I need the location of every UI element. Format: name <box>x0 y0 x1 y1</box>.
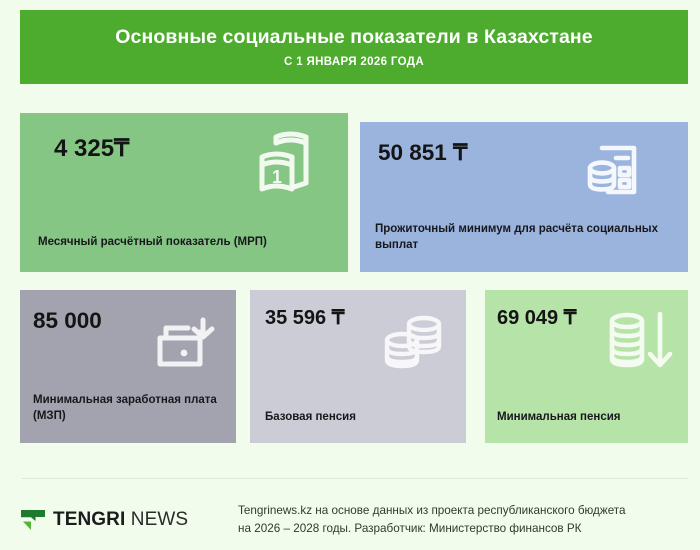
stat-value: 85 000 <box>33 310 102 333</box>
tengri-news-logo[interactable]: TENGRI NEWS <box>20 507 188 533</box>
stat-label: Минимальная заработная плата (МЗП) <box>33 393 228 424</box>
document-coins-icon <box>586 140 642 200</box>
stat-card-living-minimum: 50 851 ₸ Прожиточный минимум для расчёта… <box>360 122 688 272</box>
stat-card-minimum-wage: 85 000 Минимальная заработная плата (МЗП… <box>20 290 236 443</box>
stat-value: 69 049 ₸ <box>497 308 576 328</box>
brand-light-text: NEWS <box>131 509 188 530</box>
brand-bold: TENGRI <box>53 509 125 530</box>
page-title: Основные социальные показатели в Казахст… <box>115 26 592 49</box>
page-subtitle: С 1 ЯНВАРЯ 2026 ГОДА <box>284 56 424 68</box>
source-note: Tengrinews.kz на основе данных из проект… <box>238 502 688 538</box>
footer: TENGRI NEWS Tengrinews.kz на основе данн… <box>0 485 700 550</box>
tengri-logo-icon <box>20 507 46 533</box>
wallet-arrow-down-icon <box>156 316 216 372</box>
stat-label: Месячный расчётный показатель (МРП) <box>38 235 338 251</box>
stat-value: 35 596 ₸ <box>265 308 344 328</box>
source-line-2: на 2026 – 2028 годы. Разработчик: Минист… <box>238 520 688 538</box>
svg-text:1: 1 <box>272 167 282 187</box>
stat-card-minimum-pension: 69 049 ₸ Минимальная пенсия <box>485 290 688 443</box>
stat-value: 50 851 ₸ <box>378 142 467 165</box>
stat-value: 4 325₸ <box>54 137 129 161</box>
stat-card-base-pension: 35 596 ₸ Базовая пенсия <box>250 290 466 443</box>
stat-card-mrp: 4 325₸ 1 Месячный расчётный показатель (… <box>20 113 348 272</box>
source-line-1: Tengrinews.kz на основе данных из проект… <box>238 502 688 520</box>
coin-stacks-icon <box>382 312 444 372</box>
stat-label: Прожиточный минимум для расчёта социальн… <box>375 222 665 253</box>
header-banner: Основные социальные показатели в Казахст… <box>20 10 688 84</box>
stat-label: Базовая пенсия <box>265 410 460 426</box>
brand-wordmark: TENGRI NEWS <box>53 509 188 531</box>
calendar-one-icon: 1 <box>256 131 314 193</box>
footer-divider <box>22 478 688 479</box>
coin-stack-arrow-down-icon <box>608 310 674 372</box>
stat-label: Минимальная пенсия <box>497 410 687 426</box>
